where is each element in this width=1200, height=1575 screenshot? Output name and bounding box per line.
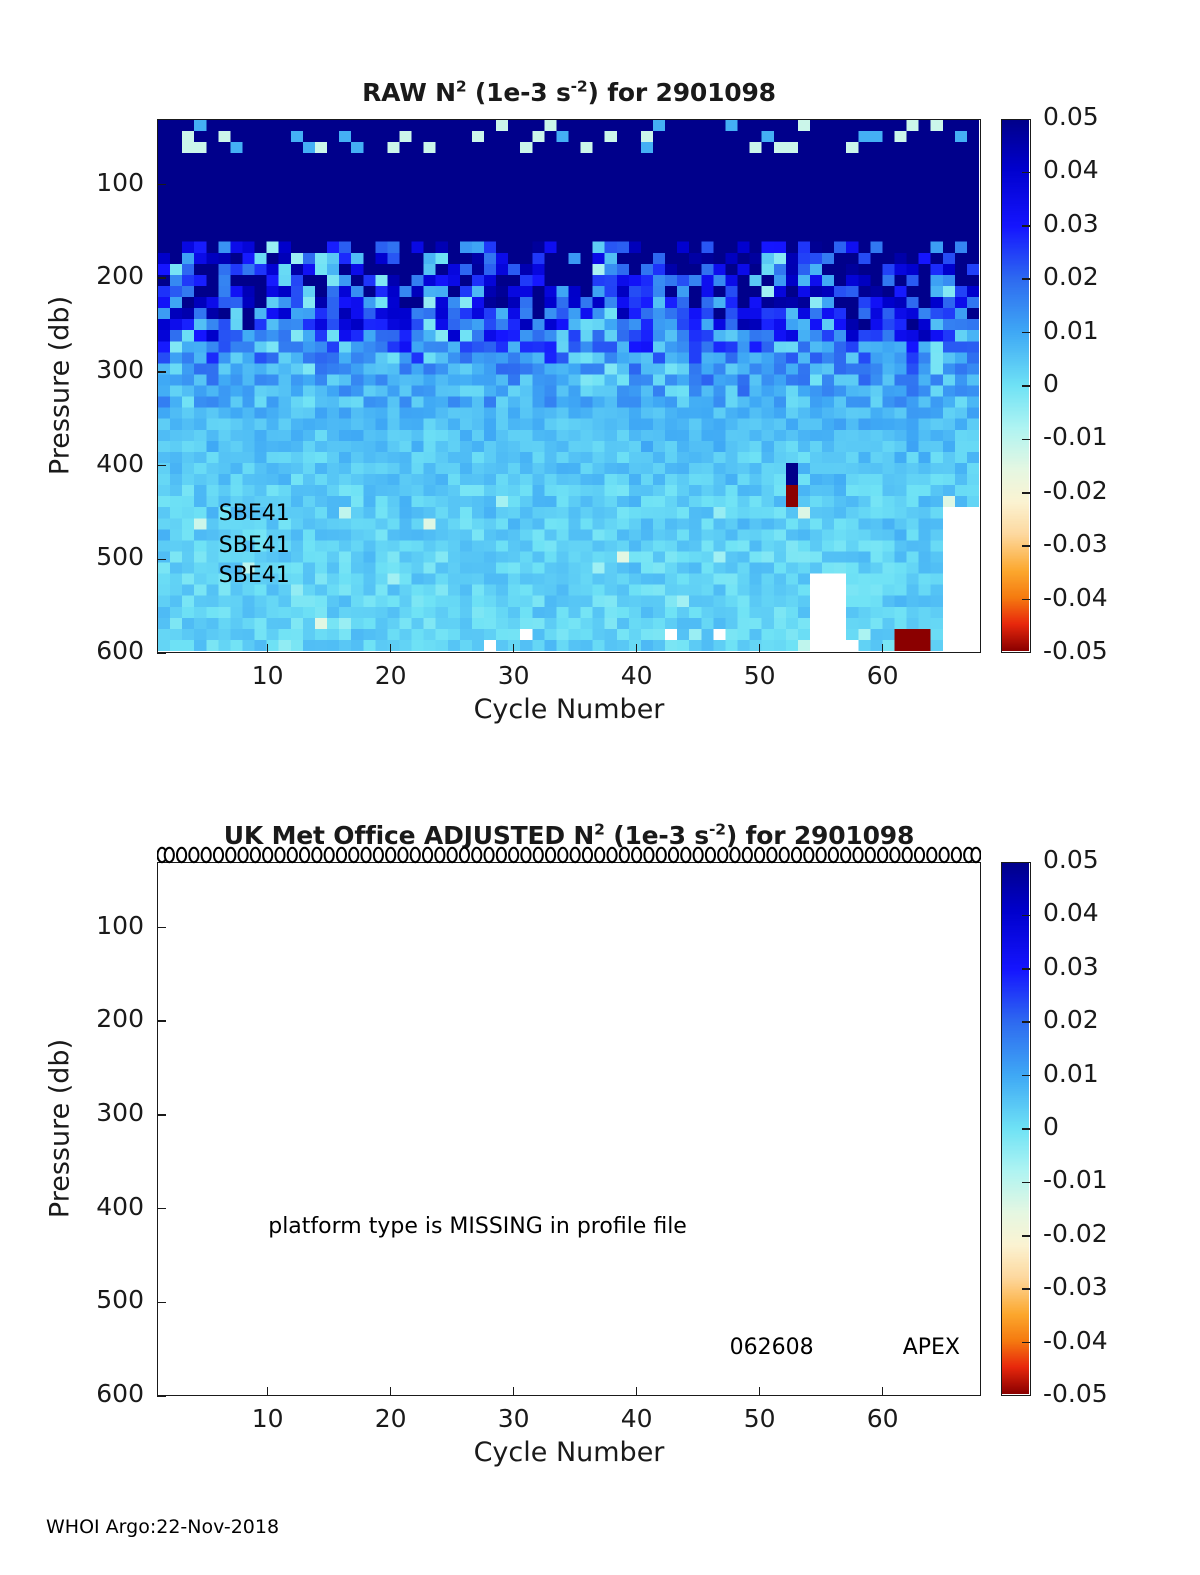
raw-ytick — [157, 184, 166, 186]
adjusted-colorbar-label: 0.04 — [1043, 898, 1099, 927]
adjusted-xtick — [759, 1387, 761, 1396]
adjusted-ytick-label: 200 — [52, 1004, 144, 1033]
adjusted-colorbar-tick — [1022, 1182, 1030, 1184]
raw-colorbar-label: -0.05 — [1043, 636, 1108, 665]
raw-ytick-label: 400 — [52, 449, 144, 478]
raw-xtick — [882, 644, 884, 653]
raw-colorbar-label: -0.01 — [1043, 422, 1108, 451]
adjusted-xtick — [636, 1387, 638, 1396]
raw-xtick-label: 40 — [592, 661, 682, 690]
raw-annotation: SBE41 — [219, 501, 290, 526]
raw-ytick-label: 200 — [52, 261, 144, 290]
adjusted-colorbar-tick — [1022, 1288, 1030, 1290]
raw-colorbar-tick — [1022, 492, 1030, 494]
adjusted-ytick-label: 500 — [52, 1285, 144, 1314]
adjusted-ytick — [157, 927, 166, 929]
raw-xtick — [513, 644, 515, 653]
adjusted-colorbar-label: 0 — [1043, 1112, 1059, 1141]
raw-annotation: SBE41 — [219, 563, 290, 588]
adjusted-colorbar-label: -0.04 — [1043, 1326, 1108, 1355]
adjusted-annotation: platform type is MISSING in profile file — [268, 1214, 687, 1239]
raw-ytick — [157, 371, 166, 373]
adjusted-xtick — [513, 1387, 515, 1396]
raw-colorbar-tick — [1022, 278, 1030, 280]
adjusted-colorbar-tick — [1022, 1075, 1030, 1077]
raw-ytick — [157, 277, 166, 279]
raw-xtick — [759, 644, 761, 653]
adjusted-colorbar-label: -0.01 — [1043, 1165, 1108, 1194]
adjusted-colorbar-tick — [1022, 1235, 1030, 1237]
adjusted-ytick-label: 100 — [52, 911, 144, 940]
adjusted-colorbar-label: -0.03 — [1043, 1272, 1108, 1301]
adjusted-colorbar-tick — [1022, 968, 1030, 970]
adjusted-ytick — [157, 1302, 166, 1304]
raw-colorbar-label: 0 — [1043, 369, 1059, 398]
adjusted-xtick-label: 10 — [223, 1404, 313, 1433]
adjusted-colorbar-tick — [1022, 915, 1030, 917]
raw-ytick — [157, 652, 166, 654]
adjusted-ytick-label: 600 — [52, 1379, 144, 1408]
adjusted-xtick — [882, 1387, 884, 1396]
adjusted-colorbar-tick — [1022, 1021, 1030, 1023]
adjusted-xtick-label: 60 — [838, 1404, 928, 1433]
adjusted-ytick — [157, 1020, 166, 1022]
raw-colorbar-tick — [1022, 545, 1030, 547]
raw-ytick-label: 100 — [52, 168, 144, 197]
raw-xtick-label: 60 — [838, 661, 928, 690]
adjusted-colorbar-label: 0.03 — [1043, 952, 1099, 981]
raw-xtick-label: 30 — [469, 661, 559, 690]
adjusted-ytick-label: 300 — [52, 1098, 144, 1127]
adjusted-xtick-label: 30 — [469, 1404, 559, 1433]
raw-colorbar-tick — [1022, 385, 1030, 387]
adjusted-xtick-label: 50 — [715, 1404, 805, 1433]
raw-xtick-label: 10 — [223, 661, 313, 690]
adjusted-xtick-label: 20 — [346, 1404, 436, 1433]
adjusted-colorbar-label: -0.05 — [1043, 1379, 1108, 1408]
raw-colorbar-label: 0.03 — [1043, 209, 1099, 238]
adjusted-colorbar-tick — [1022, 1342, 1030, 1344]
raw-colorbar-tick — [1022, 225, 1030, 227]
adjusted-xtick-label: 40 — [592, 1404, 682, 1433]
raw-colorbar-label: 0.04 — [1043, 155, 1099, 184]
raw-colorbar-label: 0.02 — [1043, 262, 1099, 291]
raw-xtick — [267, 644, 269, 653]
raw-xtick-label: 50 — [715, 661, 805, 690]
raw-colorbar-tick — [1022, 332, 1030, 334]
adjusted-colorbar-label: -0.02 — [1043, 1219, 1108, 1248]
adjusted-ytick-label: 400 — [52, 1192, 144, 1221]
raw-ytick — [157, 559, 166, 561]
raw-xtick — [390, 644, 392, 653]
raw-colorbar-label: 0.05 — [1043, 102, 1099, 131]
adjusted-annotation: APEX — [903, 1335, 960, 1360]
raw-annotation: SBE41 — [219, 533, 290, 558]
raw-colorbar-label: 0.01 — [1043, 316, 1099, 345]
adjusted-colorbar-label: 0.05 — [1043, 845, 1099, 874]
adjusted-xtick — [267, 1387, 269, 1396]
raw-ytick — [157, 465, 166, 467]
adjusted-ytick — [157, 1395, 166, 1397]
raw-colorbar-tick — [1022, 439, 1030, 441]
raw-ytick-label: 600 — [52, 636, 144, 665]
adjusted-xtick — [390, 1387, 392, 1396]
raw-colorbar-tick — [1022, 172, 1030, 174]
adjusted-colorbar-tick — [1022, 1128, 1030, 1130]
adjusted-colorbar-label: 0.02 — [1043, 1005, 1099, 1034]
raw-ytick-label: 300 — [52, 355, 144, 384]
raw-colorbar-tick — [1022, 599, 1030, 601]
raw-xtick — [636, 644, 638, 653]
adjusted-ytick — [157, 1114, 166, 1116]
figure-footer: WHOI Argo:22-Nov-2018 — [46, 1516, 279, 1538]
adjusted-ytick — [157, 1208, 166, 1210]
raw-colorbar-label: -0.03 — [1043, 529, 1108, 558]
adjusted-annotation: 062608 — [730, 1335, 814, 1360]
raw-colorbar-label: -0.02 — [1043, 476, 1108, 505]
adjusted-colorbar-label: 0.01 — [1043, 1059, 1099, 1088]
raw-xtick-label: 20 — [346, 661, 436, 690]
raw-ytick-label: 500 — [52, 542, 144, 571]
raw-colorbar-label: -0.04 — [1043, 583, 1108, 612]
